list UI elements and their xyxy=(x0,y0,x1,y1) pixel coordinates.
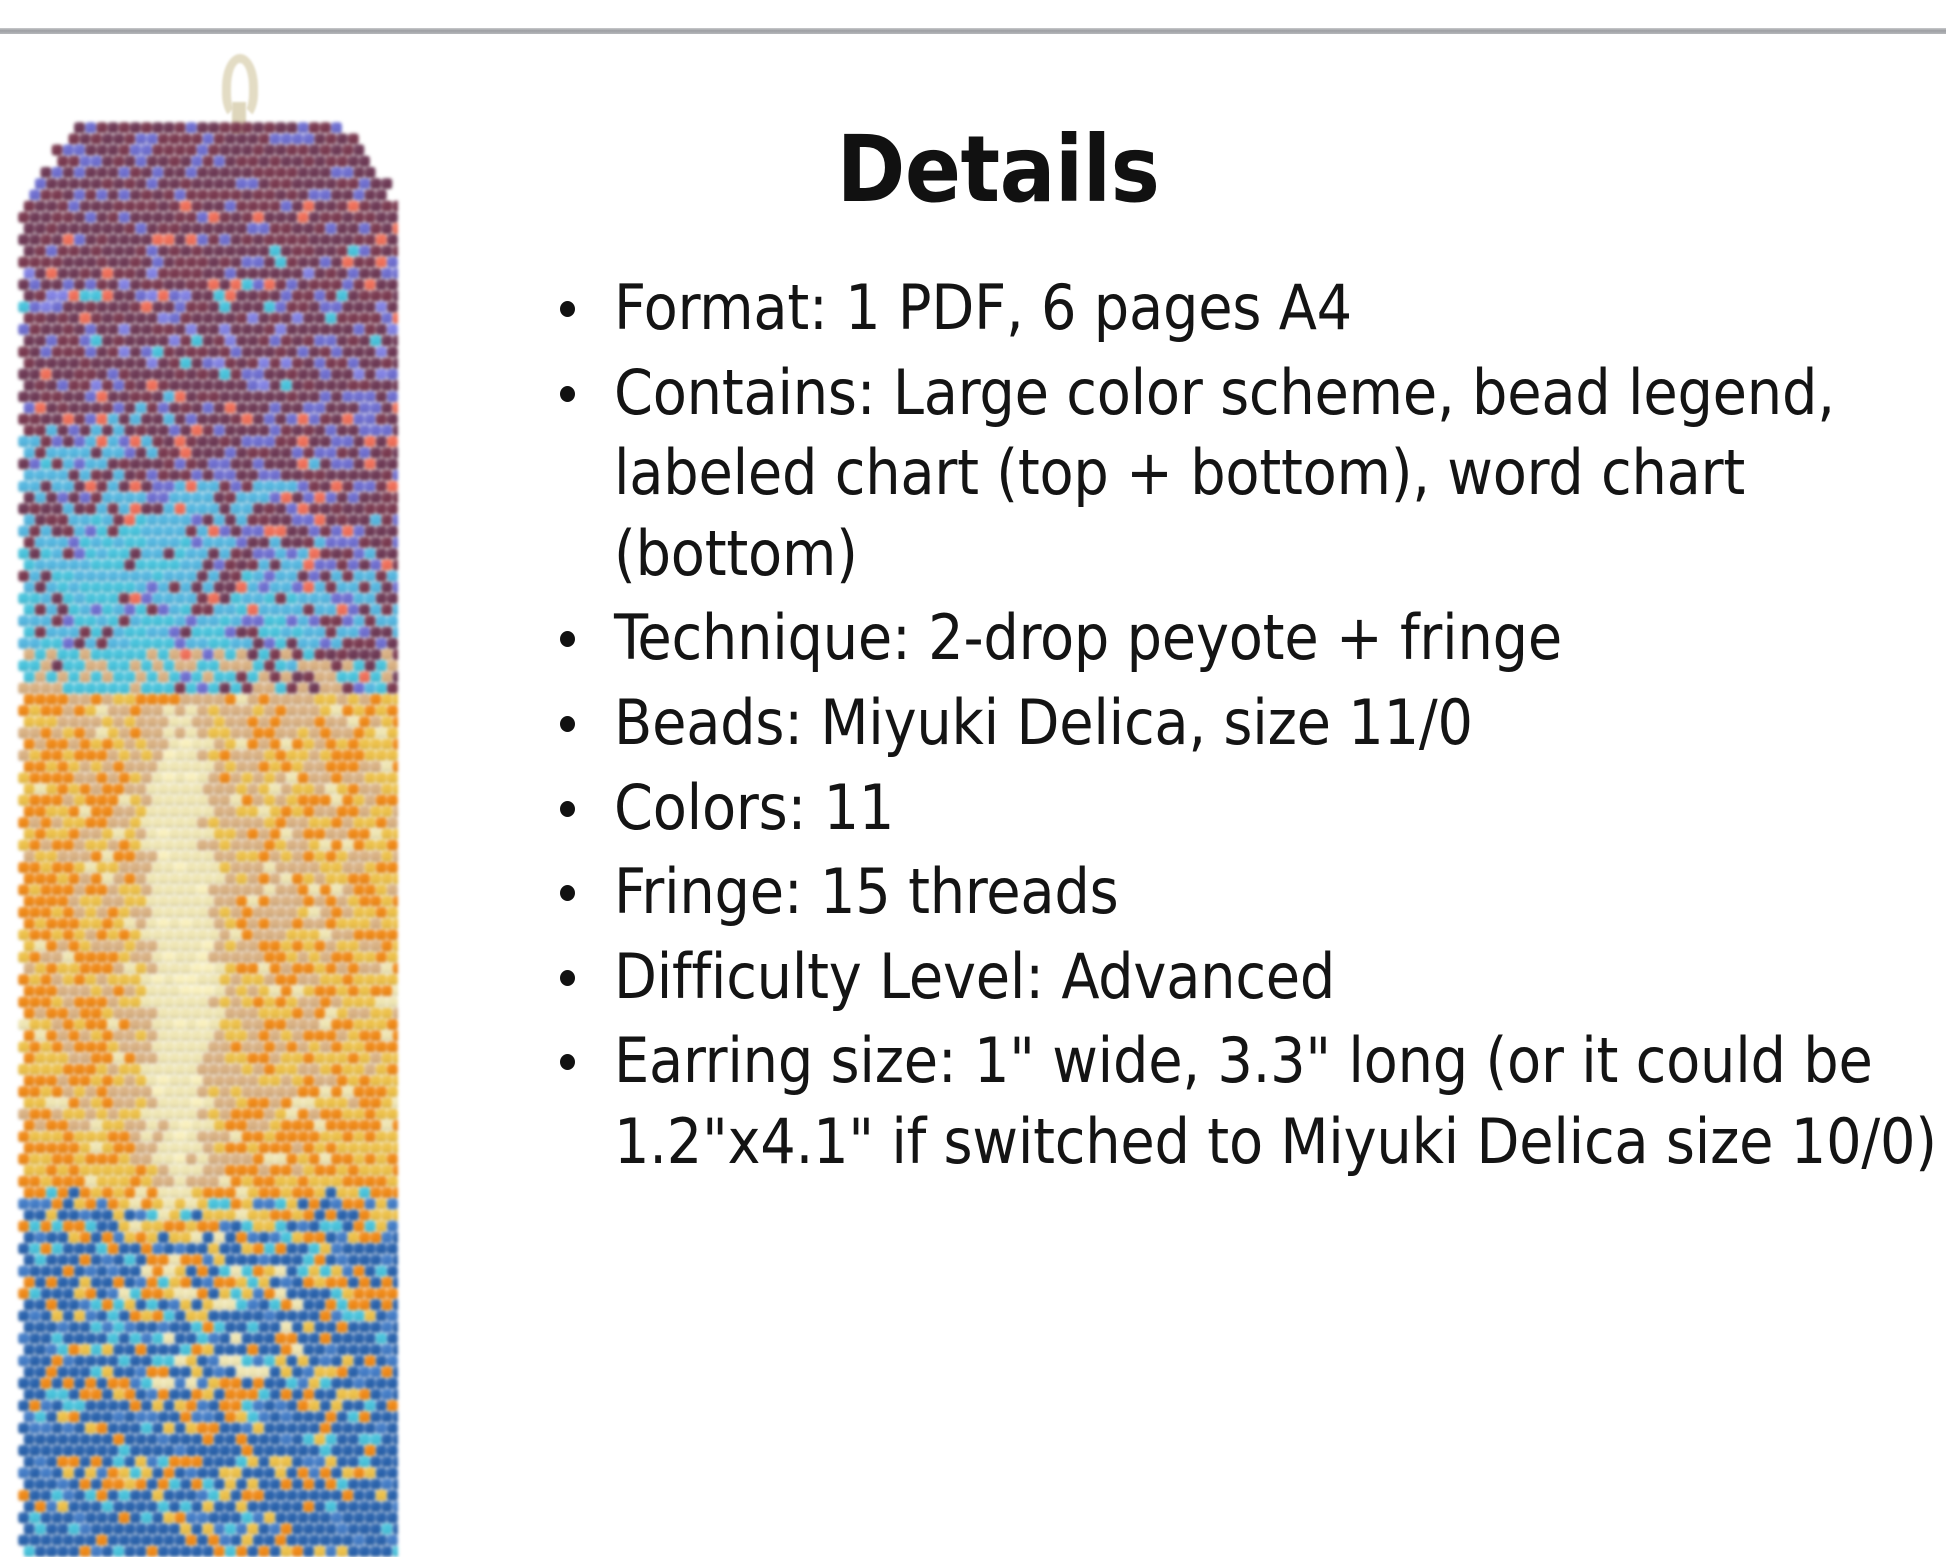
beaded-earring-image xyxy=(0,34,490,1557)
list-item: Colors: 11 xyxy=(548,768,1946,849)
bullet-icon xyxy=(560,631,575,647)
bullet-icon xyxy=(560,801,575,817)
bullet-icon xyxy=(560,386,575,402)
list-item-text: Colors: 11 xyxy=(614,771,894,844)
list-item: Contains: Large color scheme, bead legen… xyxy=(548,353,1946,595)
list-item: Fringe: 15 threads xyxy=(548,852,1946,933)
list-item-text: Beads: Miyuki Delica, size 11/0 xyxy=(614,686,1473,759)
list-item: Difficulty Level: Advanced xyxy=(548,937,1946,1018)
details-list: Format: 1 PDF, 6 pages A4 Contains: Larg… xyxy=(530,268,1946,1183)
page-body: Details Format: 1 PDF, 6 pages A4 Contai… xyxy=(0,34,1946,1557)
list-item-text: Difficulty Level: Advanced xyxy=(614,940,1335,1013)
bullet-icon xyxy=(560,716,575,732)
list-item: Beads: Miyuki Delica, size 11/0 xyxy=(548,683,1946,764)
list-item-text: Earring size: 1" wide, 3.3" long (or it … xyxy=(614,1024,1937,1178)
bead-weave-canvas xyxy=(18,122,398,1557)
page-title: Details xyxy=(530,34,1946,216)
details-column: Details Format: 1 PDF, 6 pages A4 Contai… xyxy=(520,34,1946,1557)
list-item-text: Technique: 2-drop peyote + fringe xyxy=(614,601,1562,674)
product-image-column xyxy=(0,34,520,1557)
list-item: Format: 1 PDF, 6 pages A4 xyxy=(548,268,1946,349)
list-item: Technique: 2-drop peyote + fringe xyxy=(548,598,1946,679)
list-item-text: Fringe: 15 threads xyxy=(614,855,1118,928)
bullet-icon xyxy=(560,1054,575,1070)
list-item: Earring size: 1" wide, 3.3" long (or it … xyxy=(548,1021,1946,1182)
list-item-text: Contains: Large color scheme, bead legen… xyxy=(614,356,1835,590)
list-item-text: Format: 1 PDF, 6 pages A4 xyxy=(614,271,1352,344)
bullet-icon xyxy=(560,301,575,317)
bead-weave-panel xyxy=(18,122,398,1557)
bullet-icon xyxy=(560,970,575,986)
bullet-icon xyxy=(560,885,575,901)
